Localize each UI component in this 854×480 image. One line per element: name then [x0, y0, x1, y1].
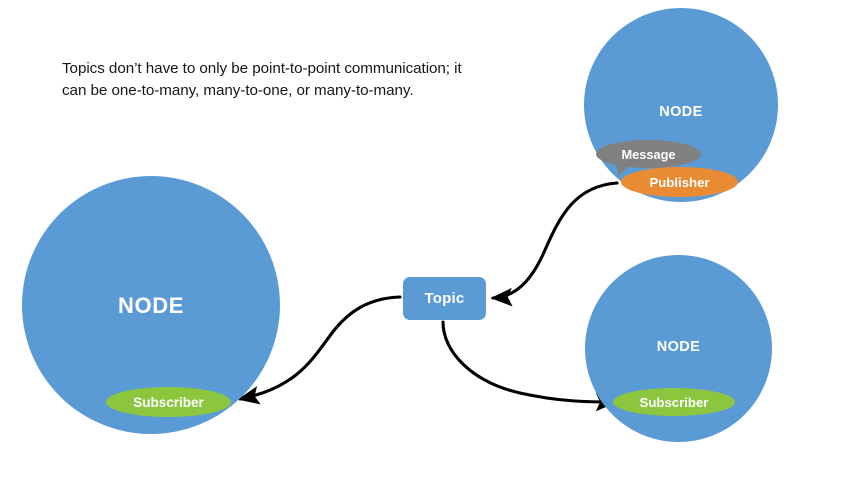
message-callout-badge[interactable]: Message — [596, 140, 701, 168]
node-right-subscriber-label: NODE — [585, 339, 772, 355]
node-left-label: NODE — [22, 293, 280, 319]
edge-publisher-to-topic — [493, 183, 617, 298]
slide-canvas: Topics don’t have to only be point-to-po… — [0, 0, 854, 480]
caption-text: Topics don’t have to only be point-to-po… — [62, 58, 482, 102]
publisher-badge[interactable]: Publisher — [621, 167, 738, 197]
subscriber-badge-right[interactable]: Subscriber — [613, 388, 735, 416]
node-publisher-label: NODE — [584, 104, 778, 120]
topic-box[interactable]: Topic — [403, 277, 486, 320]
subscriber-badge-left[interactable]: Subscriber — [106, 387, 231, 417]
